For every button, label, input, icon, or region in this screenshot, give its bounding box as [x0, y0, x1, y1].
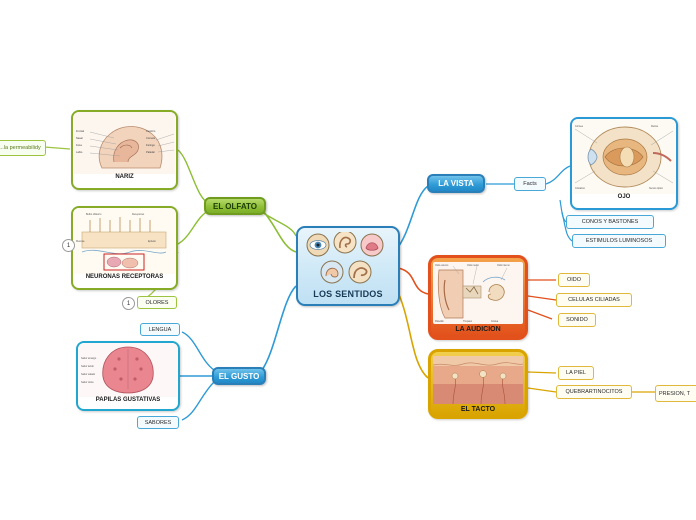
branch-gusto-label: EL GUSTO: [219, 372, 260, 381]
neuronas-illustration: Bulbo olfatorioReceptores MucosaEpitelio: [74, 208, 175, 274]
tag-conos-bastones-label: CONOS Y BASTONES: [582, 219, 639, 225]
svg-text:Labio: Labio: [76, 150, 83, 154]
tag-estimulos-luminosos[interactable]: ESTIMULOS LUMINOSOS: [572, 234, 666, 248]
nariz-illustration: FrontalNasal FosaLabio CerebroCornete Fa…: [74, 112, 175, 174]
card-nariz-label: NARIZ: [73, 174, 176, 180]
svg-text:Bulbo olfatorio: Bulbo olfatorio: [86, 213, 102, 216]
branch-olfato[interactable]: EL OLFATO: [204, 197, 266, 215]
tag-sonido[interactable]: SONIDO: [558, 313, 596, 327]
tag-presion-label: PRESION, T: [659, 391, 690, 397]
piel-illustration: [433, 356, 523, 404]
svg-text:Nervio óptico: Nervio óptico: [649, 187, 664, 190]
papilas-illustration: Sabor amargoSabor ácido Sabor saladoSabo…: [79, 343, 177, 397]
svg-text:Sabor ácido: Sabor ácido: [81, 365, 94, 368]
center-node[interactable]: LOS SENTIDOS: [296, 226, 400, 306]
svg-text:Sabor dulce: Sabor dulce: [81, 381, 94, 384]
svg-text:Cornete: Cornete: [146, 136, 156, 140]
tag-lengua[interactable]: LENGUA: [140, 323, 180, 336]
tag-estimulos-luminosos-label: ESTIMULOS LUMINOSOS: [586, 238, 652, 244]
svg-text:Receptores: Receptores: [132, 213, 145, 216]
tag-celulas-ciliadas[interactable]: CELULAS CILIADAS: [556, 293, 632, 307]
mindmap-canvas: LOS SENTIDOS EL OLFATO FrontalNasal Fosa…: [0, 0, 696, 520]
senses-icon-cluster: [304, 232, 396, 286]
tag-conos-bastones[interactable]: CONOS Y BASTONES: [566, 215, 654, 229]
svg-text:Paladar: Paladar: [146, 150, 155, 154]
tag-olores[interactable]: OLORES: [137, 296, 177, 309]
svg-text:Oído externo: Oído externo: [435, 264, 449, 267]
tag-quebrartinocitos[interactable]: QUEBRARTINOCITOS: [556, 385, 632, 399]
svg-text:Frontal: Frontal: [76, 129, 84, 133]
card-audicion[interactable]: Oído externoOído medio Oído interno Pabe…: [428, 255, 528, 340]
svg-text:Oído medio: Oído medio: [467, 265, 480, 267]
tag-facts-label: Facts: [523, 181, 536, 187]
svg-text:Mucosa: Mucosa: [76, 240, 85, 243]
badge-1-olores-label: 1: [127, 301, 130, 307]
svg-text:Cóclea: Cóclea: [491, 321, 499, 323]
ojo-illustration: CórneaCristalino RetinaNervio óptico: [573, 119, 675, 194]
card-ojo-label: OJO: [572, 194, 676, 200]
svg-text:Nasal: Nasal: [76, 136, 83, 140]
card-audicion-label: LA AUDICION: [431, 326, 525, 333]
tag-oido[interactable]: OIDO: [558, 273, 590, 287]
oido-illustration: Oído externoOído medio Oído interno Pabe…: [433, 262, 523, 324]
svg-text:Retina: Retina: [651, 125, 659, 128]
svg-text:Faringe: Faringe: [146, 143, 155, 147]
tag-sonido-label: SONIDO: [566, 317, 588, 323]
badge-1-left[interactable]: 1: [62, 239, 75, 252]
svg-text:Fosa: Fosa: [76, 143, 82, 147]
left-stub-label: ...la permeabilidy: [0, 145, 41, 151]
card-ojo[interactable]: CórneaCristalino RetinaNervio óptico OJO: [570, 117, 678, 210]
svg-text:Córnea: Córnea: [575, 125, 584, 128]
svg-text:Pabellón: Pabellón: [435, 321, 445, 323]
card-tacto[interactable]: EL TACTO: [428, 349, 528, 419]
card-papilas-gustativas[interactable]: Sabor amargoSabor ácido Sabor saladoSabo…: [76, 341, 180, 411]
card-papilas-label: PAPILAS GUSTATIVAS: [78, 397, 178, 403]
tag-quebrartinocitos-label: QUEBRARTINOCITOS: [566, 389, 623, 395]
tag-olores-label: OLORES: [146, 300, 169, 306]
svg-text:Sabor salado: Sabor salado: [81, 373, 96, 376]
tag-presion-clipped[interactable]: PRESION, T: [655, 385, 696, 402]
card-neuronas-receptoras[interactable]: Bulbo olfatorioReceptores MucosaEpitelio…: [71, 206, 178, 290]
senses-icons-svg: [304, 232, 396, 286]
tag-sabores-label: SABORES: [145, 420, 172, 426]
svg-text:Oído interno: Oído interno: [497, 264, 510, 267]
tag-la-piel-label: LA PIEL: [566, 370, 586, 376]
badge-1-olores[interactable]: 1: [122, 297, 135, 310]
svg-text:Tímpano: Tímpano: [463, 321, 473, 323]
svg-text:Sabor amargo: Sabor amargo: [81, 357, 97, 360]
branch-gusto[interactable]: EL GUSTO: [212, 367, 266, 385]
svg-text:Cristalino: Cristalino: [575, 187, 586, 190]
svg-text:Epitelio: Epitelio: [148, 240, 157, 243]
center-label: LOS SENTIDOS: [313, 289, 382, 304]
branch-vista[interactable]: LA VISTA: [427, 174, 485, 193]
branch-olfato-label: EL OLFATO: [213, 202, 257, 211]
badge-1-left-label: 1: [67, 243, 70, 249]
left-stub-note[interactable]: ...la permeabilidy: [0, 140, 46, 156]
tag-oido-label: OIDO: [567, 277, 581, 283]
tag-celulas-ciliadas-label: CELULAS CILIADAS: [568, 297, 620, 303]
branch-vista-label: LA VISTA: [438, 179, 474, 188]
tag-la-piel[interactable]: LA PIEL: [558, 366, 594, 380]
tag-lengua-label: LENGUA: [149, 327, 172, 333]
card-nariz[interactable]: FrontalNasal FosaLabio CerebroCornete Fa…: [71, 110, 178, 190]
tag-facts[interactable]: Facts: [514, 177, 546, 191]
tag-sabores[interactable]: SABORES: [137, 416, 179, 429]
card-neuronas-label: NEURONAS RECEPTORAS: [73, 274, 176, 280]
card-tacto-label: EL TACTO: [431, 406, 525, 413]
svg-text:Cerebro: Cerebro: [146, 129, 156, 133]
